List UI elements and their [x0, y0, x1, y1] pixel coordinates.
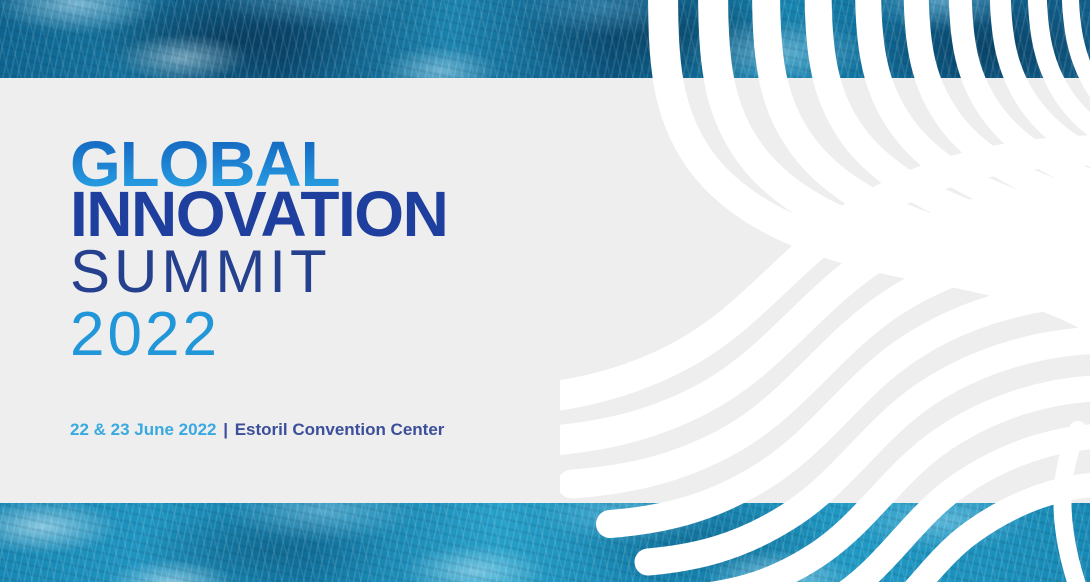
ocean-foam-texture: [0, 503, 1090, 582]
event-details: 22 & 23 June 2022 | Estoril Convention C…: [70, 420, 444, 440]
title-lockup: GLOBAL INNOVATION SUMMIT 2022: [70, 132, 690, 366]
title-line-summit: SUMMIT: [70, 242, 690, 302]
ocean-foam-texture: [0, 0, 1090, 78]
event-date: 22 & 23 June 2022: [70, 420, 216, 439]
details-separator: |: [221, 420, 230, 439]
ocean-photo-top: [0, 0, 1090, 78]
ocean-photo-bottom: [0, 503, 1090, 582]
title-line-innovation: INNOVATION: [70, 182, 690, 246]
event-banner: GLOBAL INNOVATION SUMMIT 2022 22 & 23 Ju…: [0, 0, 1090, 582]
event-venue: Estoril Convention Center: [235, 420, 445, 439]
title-line-year: 2022: [70, 304, 690, 366]
